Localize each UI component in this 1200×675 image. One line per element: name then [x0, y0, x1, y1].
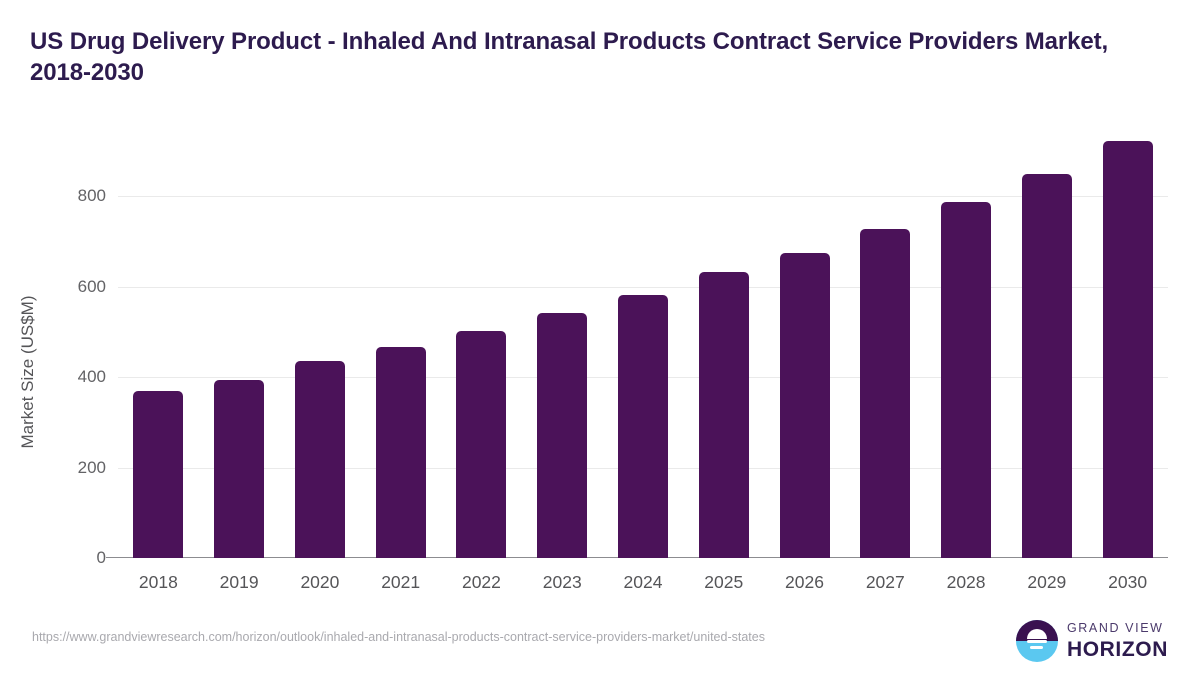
horizon-sun-icon: [1016, 620, 1058, 662]
x-tick-label-2025: 2025: [683, 572, 764, 593]
bar-slot: [683, 110, 764, 558]
bar-2018[interactable]: [133, 391, 183, 558]
source-url[interactable]: https://www.grandviewresearch.com/horizo…: [32, 628, 937, 647]
logo-top-text: GRAND VIEW: [1067, 622, 1168, 635]
y-tick-label: 200: [36, 458, 106, 478]
bar-slot: [199, 110, 280, 558]
bar-slot: [1006, 110, 1087, 558]
bar-2025[interactable]: [699, 272, 749, 558]
y-tick-label: 600: [36, 277, 106, 297]
logo-horizon-line-2: [1030, 646, 1043, 649]
x-tick-label-2023: 2023: [522, 572, 603, 593]
bar-2024[interactable]: [618, 295, 668, 558]
x-tick-label-2030: 2030: [1087, 572, 1168, 593]
page-title: US Drug Delivery Product - Inhaled And I…: [30, 26, 1170, 88]
x-tick-label-2024: 2024: [603, 572, 684, 593]
chart-page: US Drug Delivery Product - Inhaled And I…: [0, 0, 1200, 675]
bar-slot: [118, 110, 199, 558]
x-tick-label-2026: 2026: [764, 572, 845, 593]
bar-2026[interactable]: [780, 253, 830, 558]
x-tick-label-2027: 2027: [845, 572, 926, 593]
bar-slot: [603, 110, 684, 558]
x-tick-label-2022: 2022: [441, 572, 522, 593]
x-tick-label-2021: 2021: [360, 572, 441, 593]
bar-2023[interactable]: [537, 313, 587, 558]
grand-view-horizon-logo: GRAND VIEW HORIZON: [1016, 620, 1168, 662]
bar-series: [118, 110, 1168, 558]
chart-container: Market Size (US$M) 0200400600800 2018201…: [0, 110, 1200, 610]
bar-2028[interactable]: [941, 202, 991, 558]
bar-2020[interactable]: [295, 361, 345, 558]
x-tick-label-2019: 2019: [199, 572, 280, 593]
bar-2022[interactable]: [456, 331, 506, 558]
bar-2021[interactable]: [376, 347, 426, 558]
y-tick-label: 0: [36, 548, 106, 568]
bar-slot: [280, 110, 361, 558]
logo-bottom-text: HORIZON: [1067, 639, 1168, 660]
y-axis-title: Market Size (US$M): [18, 162, 38, 582]
bar-slot: [360, 110, 441, 558]
bar-2030[interactable]: [1103, 141, 1153, 558]
plot-area: 0200400600800 20182019202020212022202320…: [118, 110, 1168, 558]
bar-2029[interactable]: [1022, 174, 1072, 558]
bar-slot: [764, 110, 845, 558]
logo-horizon-line-1: [1027, 640, 1047, 643]
bar-slot: [522, 110, 603, 558]
y-tick-label: 400: [36, 367, 106, 387]
x-tick-label-2028: 2028: [926, 572, 1007, 593]
bar-slot: [845, 110, 926, 558]
bar-2027[interactable]: [860, 229, 910, 558]
bar-2019[interactable]: [214, 380, 264, 558]
x-tick-label-2018: 2018: [118, 572, 199, 593]
x-tick-label-2020: 2020: [280, 572, 361, 593]
logo-wordmark: GRAND VIEW HORIZON: [1067, 622, 1168, 660]
bar-slot: [926, 110, 1007, 558]
x-tick-label-2029: 2029: [1006, 572, 1087, 593]
y-tick-label: 800: [36, 186, 106, 206]
bar-slot: [1087, 110, 1168, 558]
bar-slot: [441, 110, 522, 558]
